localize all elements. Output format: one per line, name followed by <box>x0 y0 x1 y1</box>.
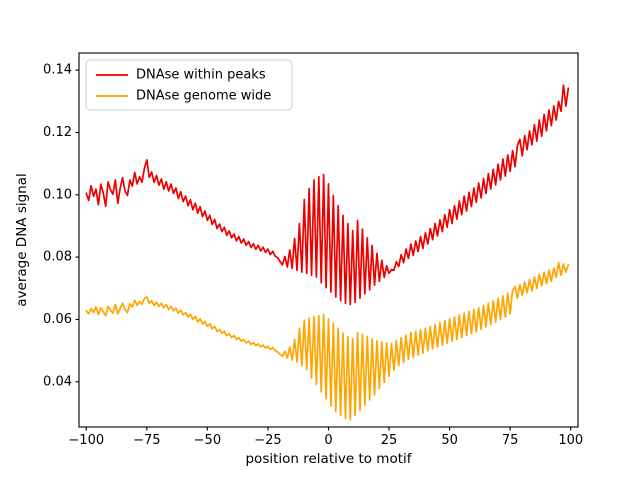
y-tick-label: 0.14 <box>43 63 72 78</box>
x-tick-label: 75 <box>502 433 519 448</box>
series-line-1 <box>86 85 568 304</box>
legend-label-1: DNAse within peaks <box>136 68 266 83</box>
legend-label-2: DNAse genome wide <box>136 89 271 104</box>
x-axis-label: position relative to motif <box>245 451 412 467</box>
line-chart: −100−75−50−250255075100 0.040.060.080.10… <box>0 0 640 480</box>
y-tick-label: 0.04 <box>43 374 72 389</box>
x-tick-label: −75 <box>133 433 160 448</box>
x-tick-label: 0 <box>324 433 332 448</box>
x-tick-label: 25 <box>381 433 398 448</box>
y-tick-label: 0.06 <box>43 312 72 327</box>
series-line-2 <box>86 263 568 420</box>
x-tick-label: 100 <box>558 433 583 448</box>
x-tick-label: 50 <box>441 433 458 448</box>
x-tick-label: −100 <box>68 433 104 448</box>
x-tick-label: −25 <box>254 433 281 448</box>
x-tick-label: −50 <box>194 433 221 448</box>
x-axis-ticks: −100−75−50−250255075100 <box>68 427 583 448</box>
y-tick-label: 0.10 <box>43 187 72 202</box>
figure-canvas: −100−75−50−250255075100 0.040.060.080.10… <box>0 0 640 480</box>
y-tick-label: 0.08 <box>43 250 72 265</box>
y-axis-label: average DNA signal <box>14 173 30 307</box>
y-tick-label: 0.12 <box>43 125 72 140</box>
data-series-layer <box>86 85 568 420</box>
chart-legend[interactable]: DNAse within peaksDNAse genome wide <box>86 60 292 110</box>
y-axis-ticks: 0.040.060.080.100.120.14 <box>43 63 79 390</box>
